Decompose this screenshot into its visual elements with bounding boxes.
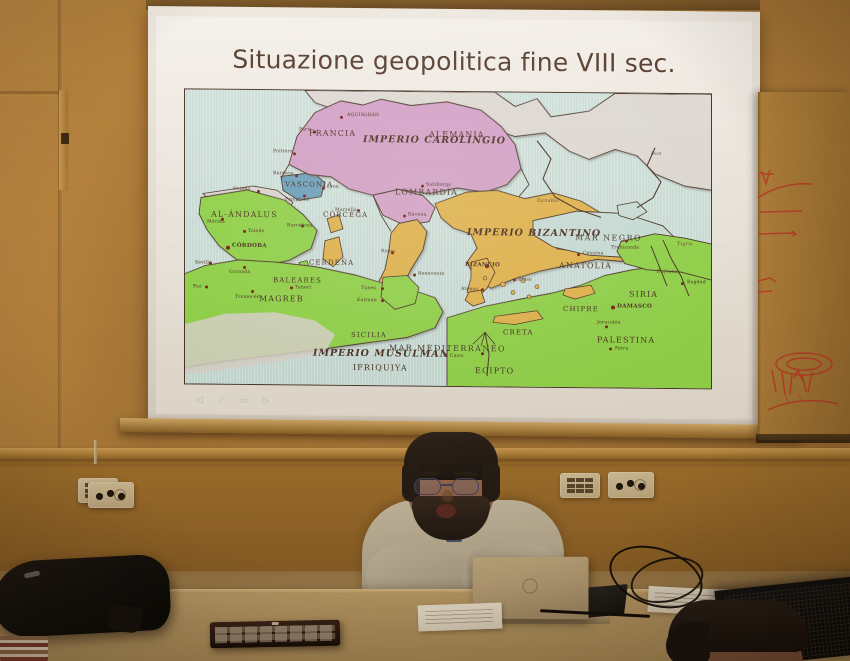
city-dot	[577, 253, 580, 256]
presenter-eyeglass-left	[414, 478, 441, 495]
city-dot	[243, 230, 246, 233]
presenter-eyeglass-bridge	[441, 484, 452, 486]
city-dot	[413, 274, 416, 277]
page-title: Situazione geopolitica fine VIII sec.	[156, 44, 752, 79]
map-label-city: Fez	[193, 284, 202, 289]
map-label-city: Pamplona	[285, 197, 309, 202]
presenter-eyeglass-right	[452, 478, 479, 495]
map-label-city: Salzburgo	[426, 183, 451, 188]
previous-slide-icon[interactable]: ◁	[194, 394, 205, 405]
next-slide-icon[interactable]: ▷	[260, 395, 271, 406]
map-label-river: Éufrates	[657, 270, 680, 275]
map-label-capital: DAMASCO	[617, 304, 652, 310]
map-label-city: Petra	[615, 346, 628, 351]
map-label-region: CERDEÑA	[309, 259, 354, 267]
socket-hole	[627, 480, 634, 487]
map-label-city: AQUISGRÁN	[347, 113, 379, 118]
map-label-city: Kairuán	[357, 298, 377, 303]
map-label-city: Rávena	[408, 212, 427, 217]
whiteboard	[758, 92, 850, 440]
map-label-region: CRETA	[503, 328, 534, 336]
projection-screen: Situazione geopolitica fine VIII sec.	[148, 6, 760, 426]
map-label-region: IFRIQUIYA	[353, 363, 408, 373]
socket-hole	[96, 493, 103, 500]
map-label-region: SIRIA	[629, 290, 658, 299]
city-dot	[481, 288, 484, 291]
light-switch-right[interactable]	[560, 473, 600, 498]
city-dot	[251, 290, 254, 293]
capital-dot	[611, 305, 615, 309]
map-label-city: Bagdad	[687, 280, 706, 285]
map-label-sea: MAR NEGRO	[575, 233, 642, 243]
power-outlet-right[interactable]	[608, 472, 654, 498]
switch-rocker-grid[interactable]	[567, 478, 593, 493]
paper-text-lines	[425, 609, 493, 625]
city-dot	[205, 286, 208, 289]
map-label-city: Barcelona	[287, 223, 312, 228]
socket-hole	[616, 483, 623, 490]
map-label-city: Oviedo	[233, 187, 250, 192]
map-label-city: Lyon	[327, 185, 339, 190]
laptop-brand-logo	[523, 578, 538, 593]
map-label-city: Mérida	[207, 220, 225, 225]
backpack	[0, 553, 172, 638]
map-label-region: SICILIA	[351, 331, 387, 339]
map-label-city: Sevilla	[195, 260, 212, 265]
backpack-strap	[107, 604, 144, 633]
map-label-city: Atenas	[461, 287, 478, 292]
audience-hair-side	[666, 622, 710, 661]
city-dot	[605, 325, 608, 328]
control-panel-keys[interactable]	[215, 625, 335, 644]
map-label-river: Tigris	[677, 242, 693, 247]
map-label-region: PALESTINA	[597, 335, 655, 345]
map-label-city: Túnez	[361, 286, 376, 291]
control-panel[interactable]	[210, 620, 341, 649]
books-stack	[0, 636, 48, 661]
map-label-city: Trebisonda	[611, 245, 639, 250]
presenter-nose	[442, 490, 453, 502]
city-dot	[513, 279, 516, 282]
map-label-region: ANATOLIA	[559, 261, 612, 271]
pen-tool-icon[interactable]: ／	[216, 395, 227, 406]
map-label-capital: BIZANCIO	[465, 262, 500, 268]
city-dot	[609, 347, 612, 350]
map-label-city: Cesarea	[583, 251, 603, 256]
city-dot	[381, 299, 384, 302]
map-label-region: MAGREB	[259, 294, 304, 303]
capital-dot	[226, 246, 230, 250]
wall-joint-line	[0, 91, 60, 94]
historical-map: IMPERIO CAROLINGIO IMPERIO BIZANTINO IMP…	[184, 88, 712, 389]
paper-sheet	[418, 603, 503, 632]
wall-seam	[58, 0, 63, 448]
socket-hole	[107, 490, 114, 497]
map-label-region: LOMBARDÍA	[395, 187, 458, 197]
presenter-mouth	[436, 504, 456, 518]
city-dot	[681, 282, 684, 285]
whiteboard-marker-notes	[758, 92, 850, 440]
power-outlet-left-socket[interactable]	[88, 482, 134, 508]
map-label-sea: MAR MEDITERRÁNEO	[389, 343, 506, 353]
map-label-city: París	[299, 127, 312, 132]
classroom-scene: Situazione geopolitica fine VIII sec.	[0, 0, 850, 661]
map-label-region: BALEARES	[273, 276, 322, 284]
conduit-left	[94, 440, 97, 464]
map-label-capital: CÓRDOBA	[232, 243, 267, 249]
city-dot	[295, 174, 298, 177]
slide-menu-icon[interactable]: ▭	[238, 395, 249, 406]
map-label-city: Toledo	[248, 229, 265, 234]
presentation-slide: Situazione geopolitica fine VIII sec.	[156, 16, 752, 420]
city-dot	[243, 266, 246, 269]
wall-panel-left	[0, 0, 160, 450]
socket-ring	[634, 479, 646, 491]
map-label-city: Marsella	[335, 208, 357, 213]
map-label-city: Benevento	[418, 272, 444, 277]
map-label-region: FRANCIA	[309, 129, 356, 138]
map-label-region: AL-ÁNDALUS	[211, 210, 278, 220]
whiteboard-marker-tray	[756, 434, 850, 443]
map-label-city: Tremecén	[235, 295, 260, 300]
city-dot	[381, 287, 384, 290]
map-label-city: Roma	[381, 249, 395, 254]
city-dot	[293, 152, 296, 155]
city-dot	[257, 190, 260, 193]
map-label-city: Granada	[229, 270, 250, 275]
map-label-river: Don	[651, 152, 662, 157]
map-label-city: El Cairo	[443, 354, 464, 359]
map-label-city: Poitiers	[273, 149, 292, 154]
wall-corner-shadow	[61, 133, 69, 144]
control-panel-indicator	[272, 622, 279, 625]
socket-ring	[114, 489, 126, 501]
map-label-region: ALEMANIA	[429, 130, 485, 140]
slideshow-toolbar[interactable]: ◁ ／ ▭ ▷	[194, 394, 271, 406]
map-label-region: CHIPRE	[563, 305, 599, 313]
map-label-city: Burdeos	[273, 171, 294, 176]
city-dot	[290, 286, 293, 289]
map-label-river: Danubio	[537, 199, 559, 204]
city-dot	[403, 214, 406, 217]
map-label-region: EGIPTO	[475, 366, 514, 375]
map-label-city: Éfeso	[518, 278, 532, 283]
map-label-city: Jerusalén	[597, 320, 621, 325]
city-dot	[340, 116, 343, 119]
map-label-city: Tahert	[295, 285, 311, 290]
